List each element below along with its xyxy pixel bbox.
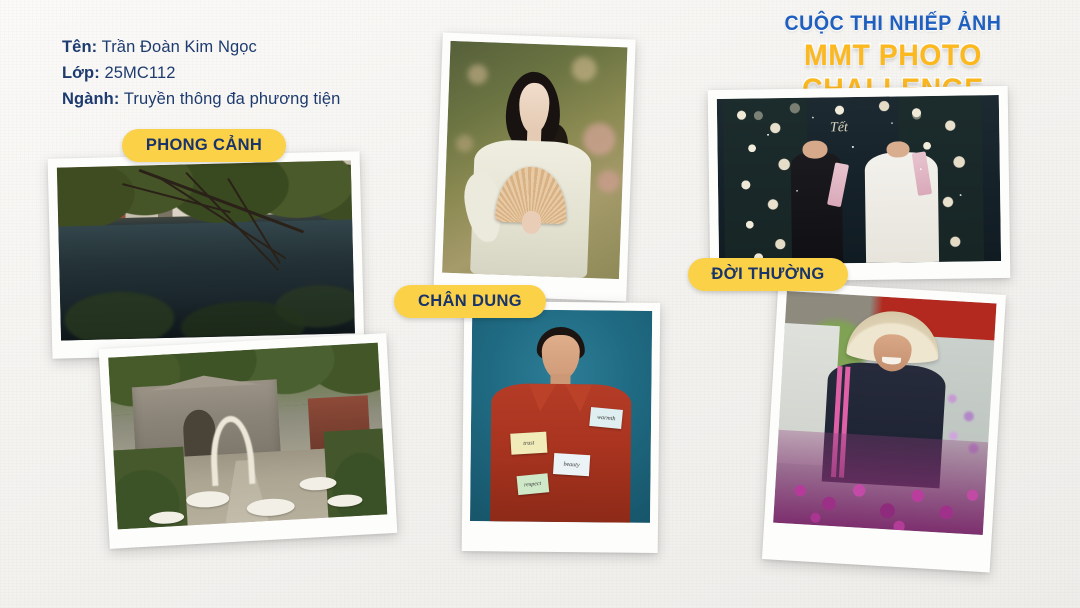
- name-value: Trần Đoàn Kim Ngọc: [102, 38, 257, 56]
- photo-image-woman-fan: [442, 41, 627, 279]
- photo-frame-wedding-couple[interactable]: Tết: [708, 86, 1011, 282]
- photo-frame-lake[interactable]: [48, 151, 365, 359]
- photo-frame-wedding-venue[interactable]: [99, 333, 398, 549]
- class-value: 25MC112: [104, 64, 175, 82]
- photo-image-wedding-venue: [108, 343, 387, 530]
- student-name-row: Tên: Trần Đoàn Kim Ngọc: [62, 34, 340, 60]
- photo-frame-flower-vendor[interactable]: [762, 281, 1006, 572]
- headline-line-1: CUỘC THI NHIẾP ẢNH: [740, 12, 1047, 36]
- photo-image-lake: [57, 160, 355, 340]
- category-pill-landscape[interactable]: PHONG CẢNH: [122, 129, 286, 162]
- photo-image-flower-vendor: [773, 291, 996, 535]
- category-pill-everyday[interactable]: ĐỜI THƯỜNG: [688, 258, 848, 291]
- category-pill-portrait[interactable]: CHÂN DUNG: [394, 285, 546, 318]
- category-label-everyday: ĐỜI THƯỜNG: [711, 265, 824, 284]
- student-major-row: Ngành: Truyền thông đa phương tiện: [62, 86, 340, 112]
- class-label: Lớp:: [62, 64, 100, 82]
- category-label-portrait: CHÂN DUNG: [418, 292, 522, 311]
- category-label-landscape: PHONG CẢNH: [146, 136, 262, 155]
- major-label: Ngành:: [62, 90, 119, 108]
- poster-canvas: Tên: Trần Đoàn Kim Ngọc Lớp: 25MC112 Ngà…: [0, 0, 1080, 608]
- student-class-row: Lớp: 25MC112: [62, 60, 340, 86]
- student-info-block: Tên: Trần Đoàn Kim Ngọc Lớp: 25MC112 Ngà…: [62, 34, 340, 112]
- major-value: Truyền thông đa phương tiện: [124, 90, 341, 108]
- photo-image-wedding-couple: Tết: [717, 95, 1001, 265]
- photo-image-man-red-shirt: trust beauty respect warmth: [470, 309, 652, 523]
- photo-frame-woman-fan[interactable]: [433, 33, 635, 302]
- name-label: Tên:: [62, 38, 97, 56]
- photo-frame-man-red-shirt[interactable]: trust beauty respect warmth: [462, 301, 661, 553]
